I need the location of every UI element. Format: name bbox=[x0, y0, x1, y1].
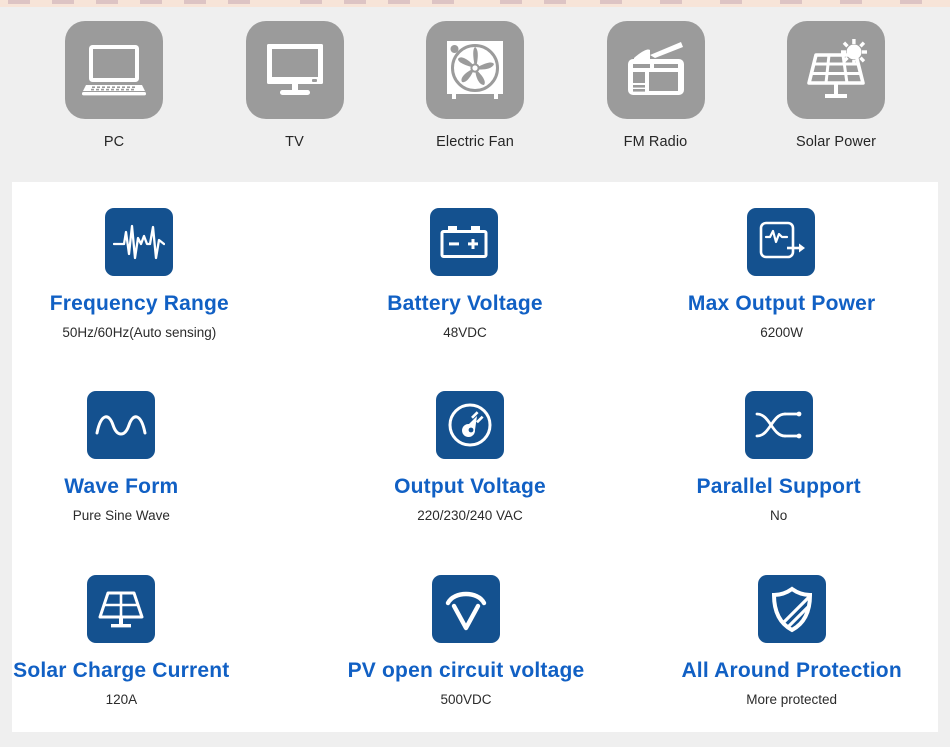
appliance-item-tv: TV bbox=[211, 21, 379, 150]
appliance-badge bbox=[787, 21, 885, 119]
spec-icon-box bbox=[745, 391, 813, 459]
spec-title: PV open circuit voltage bbox=[348, 659, 585, 683]
spec-item-pv-open-circuit-voltage: PV open circuit voltage 500VDC bbox=[321, 549, 630, 707]
appliance-label: FM Radio bbox=[624, 134, 688, 150]
appliance-label: Solar Power bbox=[796, 134, 876, 150]
spec-title: Max Output Power bbox=[688, 292, 876, 316]
solar-panel-icon bbox=[96, 587, 146, 631]
solar-panel-sun-icon bbox=[803, 39, 869, 101]
appliance-badge bbox=[426, 21, 524, 119]
spec-icon-box bbox=[758, 575, 826, 643]
spec-title: All Around Protection bbox=[681, 659, 901, 683]
sine-wave-icon bbox=[95, 405, 147, 445]
appliance-item-electric-fan: Electric Fan bbox=[391, 21, 559, 150]
appliance-item-solar-power: Solar Power bbox=[752, 21, 920, 150]
spec-title: Battery Voltage bbox=[387, 292, 543, 316]
spec-item-wave-form: Wave Form Pure Sine Wave bbox=[12, 365, 321, 523]
specifications-card: Frequency Range 50Hz/60Hz(Auto sensing) … bbox=[12, 182, 938, 732]
spec-value: Pure Sine Wave bbox=[73, 508, 170, 523]
appliance-badge bbox=[246, 21, 344, 119]
spec-icon-box bbox=[105, 208, 173, 276]
appliance-label: TV bbox=[285, 134, 304, 150]
appliance-item-fm-radio: FM Radio bbox=[572, 21, 740, 150]
appliance-compatibility-band: PC TV bbox=[0, 7, 950, 177]
waveform-icon bbox=[113, 218, 165, 266]
spec-title: Wave Form bbox=[64, 475, 178, 499]
fm-radio-icon bbox=[624, 41, 688, 99]
appliance-badge bbox=[607, 21, 705, 119]
shield-icon bbox=[769, 585, 815, 633]
spec-title: Frequency Range bbox=[50, 292, 229, 316]
spec-item-frequency-range: Frequency Range 50Hz/60Hz(Auto sensing) bbox=[12, 182, 321, 340]
parallel-cross-icon bbox=[754, 406, 804, 444]
spec-item-battery-voltage: Battery Voltage 48VDC bbox=[321, 182, 630, 340]
spec-title: Parallel Support bbox=[697, 475, 861, 499]
top-partial-strip bbox=[0, 0, 950, 7]
spec-value: 120A bbox=[106, 692, 138, 707]
voltage-v-icon bbox=[442, 586, 490, 632]
appliance-label: Electric Fan bbox=[436, 134, 514, 150]
spec-item-all-around-protection: All Around Protection More protected bbox=[629, 549, 938, 707]
spec-item-parallel-support: Parallel Support No bbox=[629, 365, 938, 523]
spec-item-max-output-power: Max Output Power 6200W bbox=[629, 182, 938, 340]
laptop-icon bbox=[82, 44, 146, 96]
tv-icon bbox=[265, 42, 325, 98]
electric-fan-icon bbox=[444, 38, 506, 102]
spec-value: 6200W bbox=[760, 325, 803, 340]
spec-icon-box bbox=[747, 208, 815, 276]
spec-value: No bbox=[770, 508, 787, 523]
spec-value: More protected bbox=[746, 692, 837, 707]
spec-icon-box bbox=[87, 391, 155, 459]
specifications-grid: Frequency Range 50Hz/60Hz(Auto sensing) … bbox=[12, 182, 938, 732]
spec-title: Output Voltage bbox=[394, 475, 546, 499]
spec-icon-box bbox=[436, 391, 504, 459]
power-output-icon bbox=[756, 220, 806, 264]
spec-title: Solar Charge Current bbox=[13, 659, 229, 683]
battery-icon bbox=[440, 223, 488, 261]
spec-icon-box bbox=[430, 208, 498, 276]
spec-value: 50Hz/60Hz(Auto sensing) bbox=[62, 325, 216, 340]
appliance-item-pc: PC bbox=[30, 21, 198, 150]
spec-icon-box bbox=[432, 575, 500, 643]
spec-item-solar-charge-current: Solar Charge Current 120A bbox=[12, 549, 321, 707]
appliance-label: PC bbox=[104, 134, 124, 150]
spec-value: 220/230/240 VAC bbox=[417, 508, 523, 523]
plug-circle-icon bbox=[447, 402, 493, 448]
spec-item-output-voltage: Output Voltage 220/230/240 VAC bbox=[321, 365, 630, 523]
appliance-badge bbox=[65, 21, 163, 119]
spec-value: 48VDC bbox=[443, 325, 487, 340]
spec-value: 500VDC bbox=[440, 692, 491, 707]
spec-icon-box bbox=[87, 575, 155, 643]
